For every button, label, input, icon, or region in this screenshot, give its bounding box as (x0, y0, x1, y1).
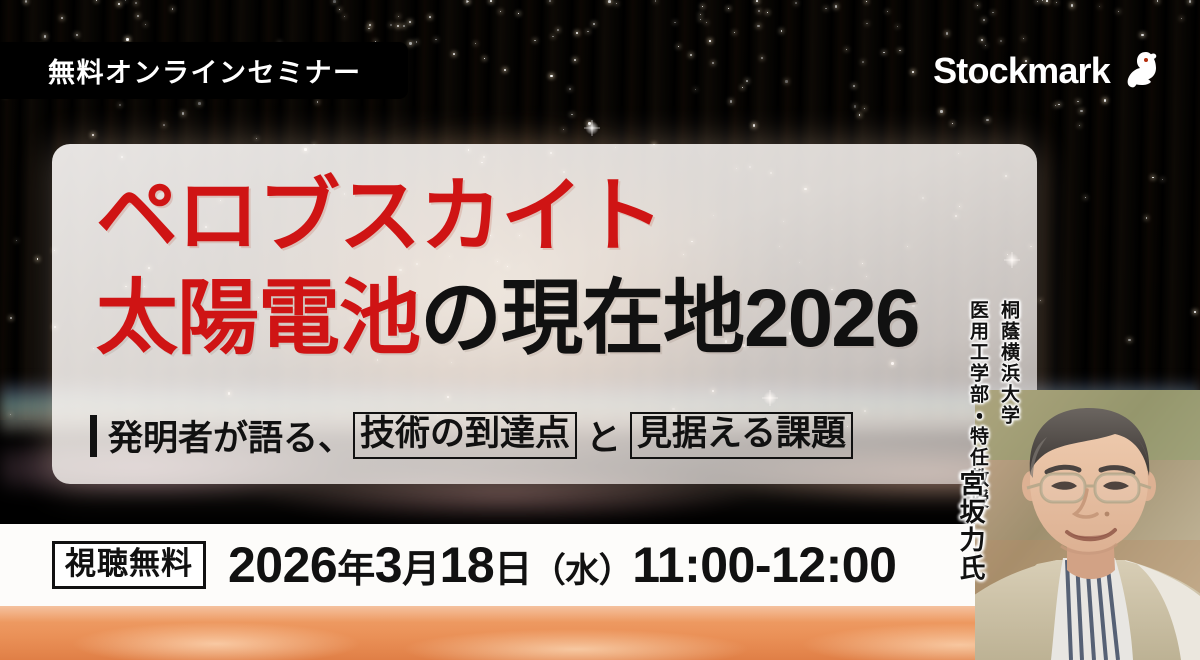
free-viewing-badge: 視聴無料 (52, 541, 206, 590)
event-datetime: 2026年3月18日（水）11:00-12:00 (228, 536, 896, 594)
logo-wordmark: Stockmark (933, 50, 1110, 92)
free-seminar-badge: 無料オンラインセミナー (0, 42, 408, 99)
date-day-unit: 日 (494, 549, 532, 591)
subtitle-lead: 発明者が語る、 (108, 410, 353, 461)
squirrel-icon (1116, 46, 1160, 95)
speaker-affiliation: 桐蔭横浜大学 (995, 300, 1022, 510)
subtitle-row: 発明者が語る、 技術の到達点 と 見据える課題 (90, 410, 853, 461)
subtitle-keyword-1: 技術の到達点 (353, 412, 577, 459)
title-line-2-red: 太陽電池 (96, 273, 420, 364)
date-strip: 視聴無料 2026年3月18日（水）11:00-12:00 (0, 524, 896, 606)
title-line-2-black: の現在地 (420, 273, 744, 364)
date-year-unit: 年 (337, 549, 375, 591)
webinar-banner: 無料オンラインセミナー Stockmark ペロブスカイト 太陽電池の現在地20… (0, 0, 1200, 660)
accent-bar-icon (90, 415, 97, 457)
title-line-2: 太陽電池の現在地2026 (96, 278, 918, 360)
speaker-name: 宮坂力氏 (953, 470, 990, 582)
title-year: 2026 (744, 273, 918, 364)
event-time: 11:00-12:00 (632, 537, 896, 593)
date-month: 3 (375, 537, 402, 593)
subtitle-keyword-2: 見据える課題 (630, 412, 853, 459)
subtitle-conjunction: と (577, 410, 630, 461)
badge-label: 無料オンラインセミナー (48, 51, 362, 90)
date-year: 2026 (228, 537, 337, 593)
stockmark-logo[interactable]: Stockmark (933, 46, 1160, 95)
title-line-1: ペロブスカイト (96, 176, 918, 258)
date-month-unit: 月 (402, 549, 440, 591)
date-weekday: （水） (532, 552, 633, 590)
date-day: 18 (440, 537, 495, 593)
title-block: ペロブスカイト 太陽電池の現在地2026 (96, 176, 918, 360)
